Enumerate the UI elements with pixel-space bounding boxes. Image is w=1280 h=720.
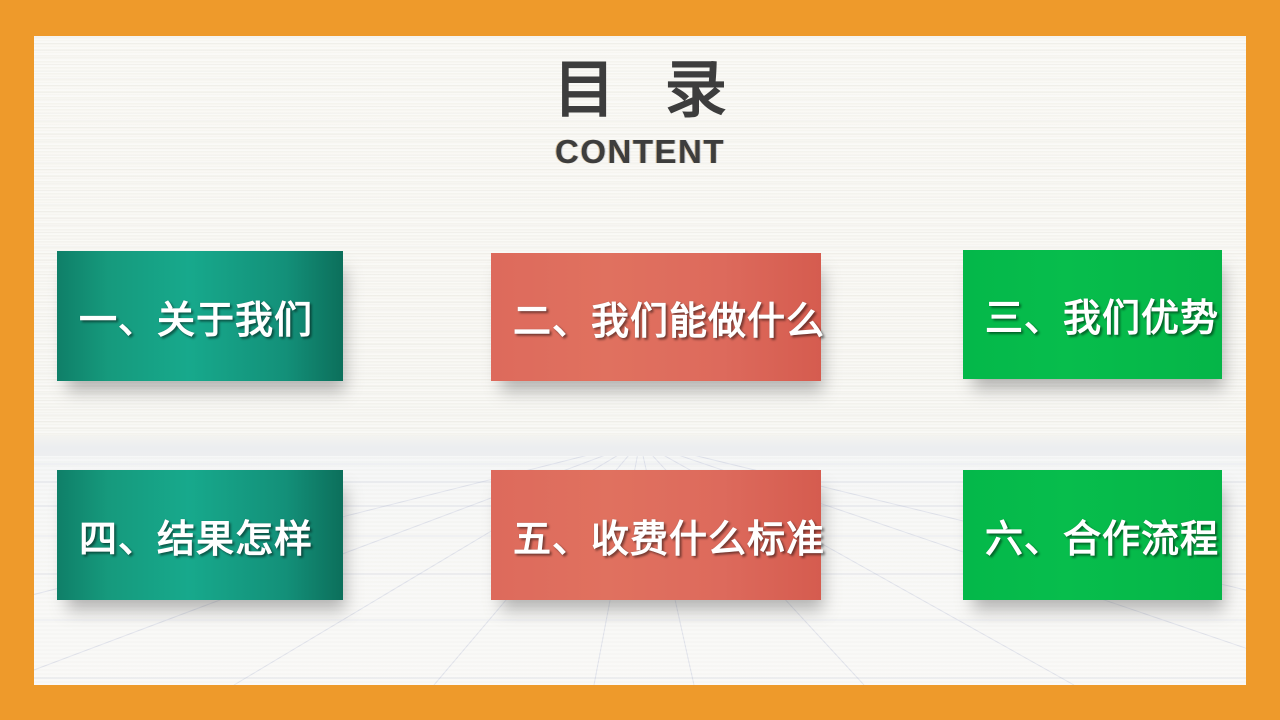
toc-item-4[interactable]: 四、结果怎样 [57, 470, 343, 600]
slide-frame: 目 录 CONTENT 一、关于我们 二、我们能做什么 三、我们优势 四、结果怎… [0, 0, 1280, 720]
page-title: 目 录 [34, 54, 1246, 125]
toc-item-6[interactable]: 六、合作流程 [963, 470, 1222, 600]
toc-item-5[interactable]: 五、收费什么标准 [491, 470, 821, 600]
page-heading: 目 录 CONTENT [34, 54, 1246, 171]
toc-item-5-label: 五、收费什么标准 [491, 508, 825, 563]
slide-canvas: 目 录 CONTENT 一、关于我们 二、我们能做什么 三、我们优势 四、结果怎… [34, 36, 1246, 685]
toc-item-2-label: 二、我们能做什么 [491, 290, 825, 345]
toc-item-3[interactable]: 三、我们优势 [963, 250, 1222, 379]
page-subtitle: CONTENT [34, 133, 1246, 171]
toc-item-2[interactable]: 二、我们能做什么 [491, 253, 821, 381]
toc-item-4-label: 四、结果怎样 [57, 508, 313, 563]
toc-item-1-label: 一、关于我们 [57, 289, 313, 344]
toc-item-1[interactable]: 一、关于我们 [57, 251, 343, 381]
toc-item-6-label: 六、合作流程 [963, 508, 1219, 563]
toc-item-3-label: 三、我们优势 [963, 287, 1219, 342]
